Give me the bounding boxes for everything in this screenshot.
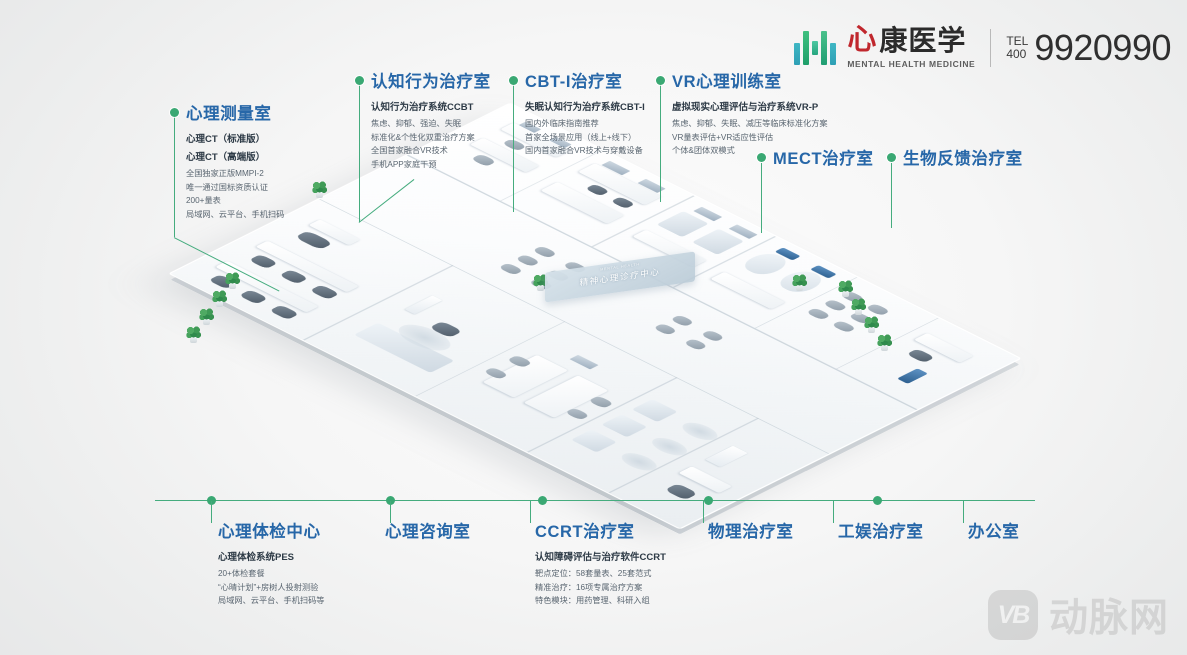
callout-ccrt-sub: 认知障碍评估与治疗软件CCRT	[535, 549, 666, 563]
plant-icon	[199, 308, 214, 325]
leader-recreation	[833, 501, 834, 523]
callout-measurement-head: 心理测量室	[170, 100, 284, 124]
brand-wordmark: 心康医学 MENTAL HEALTH MEDICINE	[847, 26, 975, 69]
callout-dot-icon	[887, 153, 896, 162]
brand-name-text: 康医学	[879, 27, 966, 55]
plant-icon	[877, 334, 892, 351]
leader-physical-exam	[211, 501, 212, 523]
callout-vr-sub: 虚拟现实心理评估与治疗系统VR-P	[672, 99, 828, 113]
watermark-logo-icon: VB	[988, 590, 1038, 640]
callout-dot-icon	[509, 76, 518, 85]
brand-bars-icon	[794, 31, 836, 65]
callout-dot-icon	[170, 108, 179, 117]
callout-recreation[interactable]: 工娱治疗室	[838, 518, 924, 542]
callout-ccbt[interactable]: 认知行为治疗室 认知行为治疗系统CCBT 焦虑、抑郁、强迫、失眠 标准化&个性化…	[355, 68, 491, 171]
callout-measurement-line-1: 唯一通过国标资质认证	[186, 181, 284, 195]
brand-name-en: MENTAL HEALTH MEDICINE	[847, 59, 975, 69]
leader-biofeedback	[891, 163, 892, 228]
plant-icon	[186, 326, 201, 343]
callout-measurement[interactable]: 心理测量室 心理CT（标准版） 心理CT（高端版） 全国独家正版MMPI-2 唯…	[170, 100, 284, 221]
callout-physical-exam-line-1: “心晴计划”+房树人投射测验	[218, 581, 324, 595]
callout-recreation-title: 工娱治疗室	[838, 518, 924, 542]
plant-icon	[225, 272, 240, 289]
callout-mect-title: MECT治疗室	[773, 145, 873, 169]
callout-cbti-title: CBT-I治疗室	[525, 68, 622, 92]
callout-measurement-title: 心理测量室	[186, 100, 272, 124]
plant-icon	[312, 181, 327, 198]
bottom-leader-rail	[155, 500, 1035, 501]
callout-biofeedback[interactable]: 生物反馈治疗室	[887, 145, 1023, 169]
callout-physical-exam-line-2: 局域网、云平台、手机扫码等	[218, 594, 324, 608]
callout-ccrt[interactable]: CCRT治疗室 认知障碍评估与治疗软件CCRT 靶点定位：58套量表、25套范式…	[535, 518, 666, 608]
callout-cbti-line-2: 国内首家融合VR技术与穿戴设备	[525, 144, 645, 158]
callout-ccbt-head: 认知行为治疗室	[355, 68, 491, 92]
watermark-logo-text: VB	[998, 601, 1029, 630]
callout-ccbt-title: 认知行为治疗室	[371, 68, 491, 92]
callout-cbti-line-1: 首家全场景应用（线上+线下）	[525, 131, 645, 145]
callout-ccrt-line-0: 靶点定位：58套量表、25套范式	[535, 567, 666, 581]
callout-vr-title: VR心理训练室	[672, 68, 782, 92]
callout-counseling[interactable]: 心理咨询室	[385, 518, 471, 542]
callout-measurement-sub2: 心理CT（高端版）	[186, 149, 284, 163]
plant-icon	[212, 290, 227, 307]
plant-icon	[792, 274, 807, 291]
callout-ccrt-title: CCRT治疗室	[535, 518, 666, 542]
callout-ccbt-line-3: 手机APP家庭干预	[371, 158, 491, 172]
callout-cbti[interactable]: CBT-I治疗室 失眠认知行为治疗系统CBT-I 国内外临床指南推荐 首家全场景…	[509, 68, 645, 158]
poster-canvas: 心康医学 MENTAL HEALTH MEDICINE TEL 400 9920…	[0, 0, 1187, 655]
callout-mect-head: MECT治疗室	[757, 145, 873, 169]
callout-vr-line-1: VR量表评估+VR适应性评估	[672, 131, 828, 145]
callout-ccrt-line-1: 精准治疗：16项专属治疗方案	[535, 581, 666, 595]
leader-ccrt	[530, 501, 531, 523]
callout-cbti-sub: 失眠认知行为治疗系统CBT-I	[525, 99, 645, 113]
callout-ccbt-line-0: 焦虑、抑郁、强迫、失眠	[371, 117, 491, 131]
callout-physical-exam-line-0: 20+体检套餐	[218, 567, 324, 581]
callout-vr-line-0: 焦虑、抑郁、失眠、减压等临床标准化方案	[672, 117, 828, 131]
rail-dot-icon	[704, 496, 713, 505]
tel-number: 9920990	[1034, 30, 1171, 66]
callout-vr-head: VR心理训练室	[656, 68, 828, 92]
callout-dot-icon	[757, 153, 766, 162]
rail-dot-icon	[538, 496, 547, 505]
callout-counseling-title: 心理咨询室	[385, 518, 471, 542]
callout-biofeedback-title: 生物反馈治疗室	[903, 145, 1023, 169]
callout-physical-exam-sub: 心理体检系统PES	[218, 549, 324, 563]
callout-office[interactable]: 办公室	[968, 518, 1019, 542]
callout-cbti-head: CBT-I治疗室	[509, 68, 645, 92]
leader-mect	[761, 163, 762, 233]
callout-ccbt-sub: 认知行为治疗系统CCBT	[371, 99, 491, 113]
leader-office	[963, 501, 964, 523]
plant-icon	[864, 316, 879, 333]
callout-mect[interactable]: MECT治疗室	[757, 145, 873, 169]
brand-name-cn: 心康医学	[847, 26, 975, 55]
brand-heart-mark: 心	[847, 26, 877, 55]
telephone-block: TEL 400 9920990	[1006, 30, 1171, 66]
callout-dot-icon	[355, 76, 364, 85]
brand-header: 心康医学 MENTAL HEALTH MEDICINE TEL 400 9920…	[794, 26, 1171, 69]
callout-office-title: 办公室	[968, 518, 1019, 542]
callout-measurement-sub: 心理CT（标准版）	[186, 131, 284, 145]
callout-physical-exam[interactable]: 心理体检中心 心理体检系统PES 20+体检套餐 “心晴计划”+房树人投射测验 …	[218, 518, 324, 608]
watermark: VB 动脉网	[988, 587, 1169, 643]
callout-physiotherapy-title: 物理治疗室	[708, 518, 794, 542]
callout-physical-exam-title: 心理体检中心	[218, 518, 324, 542]
callout-measurement-line-2: 200+量表	[186, 194, 284, 208]
callout-biofeedback-head: 生物反馈治疗室	[887, 145, 1023, 169]
brand-divider	[990, 29, 991, 67]
plant-icon	[838, 280, 853, 297]
callout-ccbt-line-2: 全国首家融合VR技术	[371, 144, 491, 158]
callout-measurement-line-3: 局域网、云平台、手机扫码	[186, 208, 284, 222]
callout-measurement-line-0: 全国独家正版MMPI-2	[186, 167, 284, 181]
watermark-text: 动脉网	[1049, 587, 1169, 643]
callout-ccrt-line-2: 特色模块：用药管理、科研入组	[535, 594, 666, 608]
tel-label-top: TEL	[1006, 35, 1028, 48]
callout-dot-icon	[656, 76, 665, 85]
leader-physiotherapy	[703, 501, 704, 523]
callout-physiotherapy[interactable]: 物理治疗室	[708, 518, 794, 542]
tel-label: TEL 400	[1006, 35, 1028, 61]
callout-ccbt-line-1: 标准化&个性化双重治疗方案	[371, 131, 491, 145]
rail-dot-icon	[873, 496, 882, 505]
tel-label-bottom: 400	[1006, 48, 1028, 61]
callout-cbti-line-0: 国内外临床指南推荐	[525, 117, 645, 131]
plant-icon	[851, 298, 866, 315]
